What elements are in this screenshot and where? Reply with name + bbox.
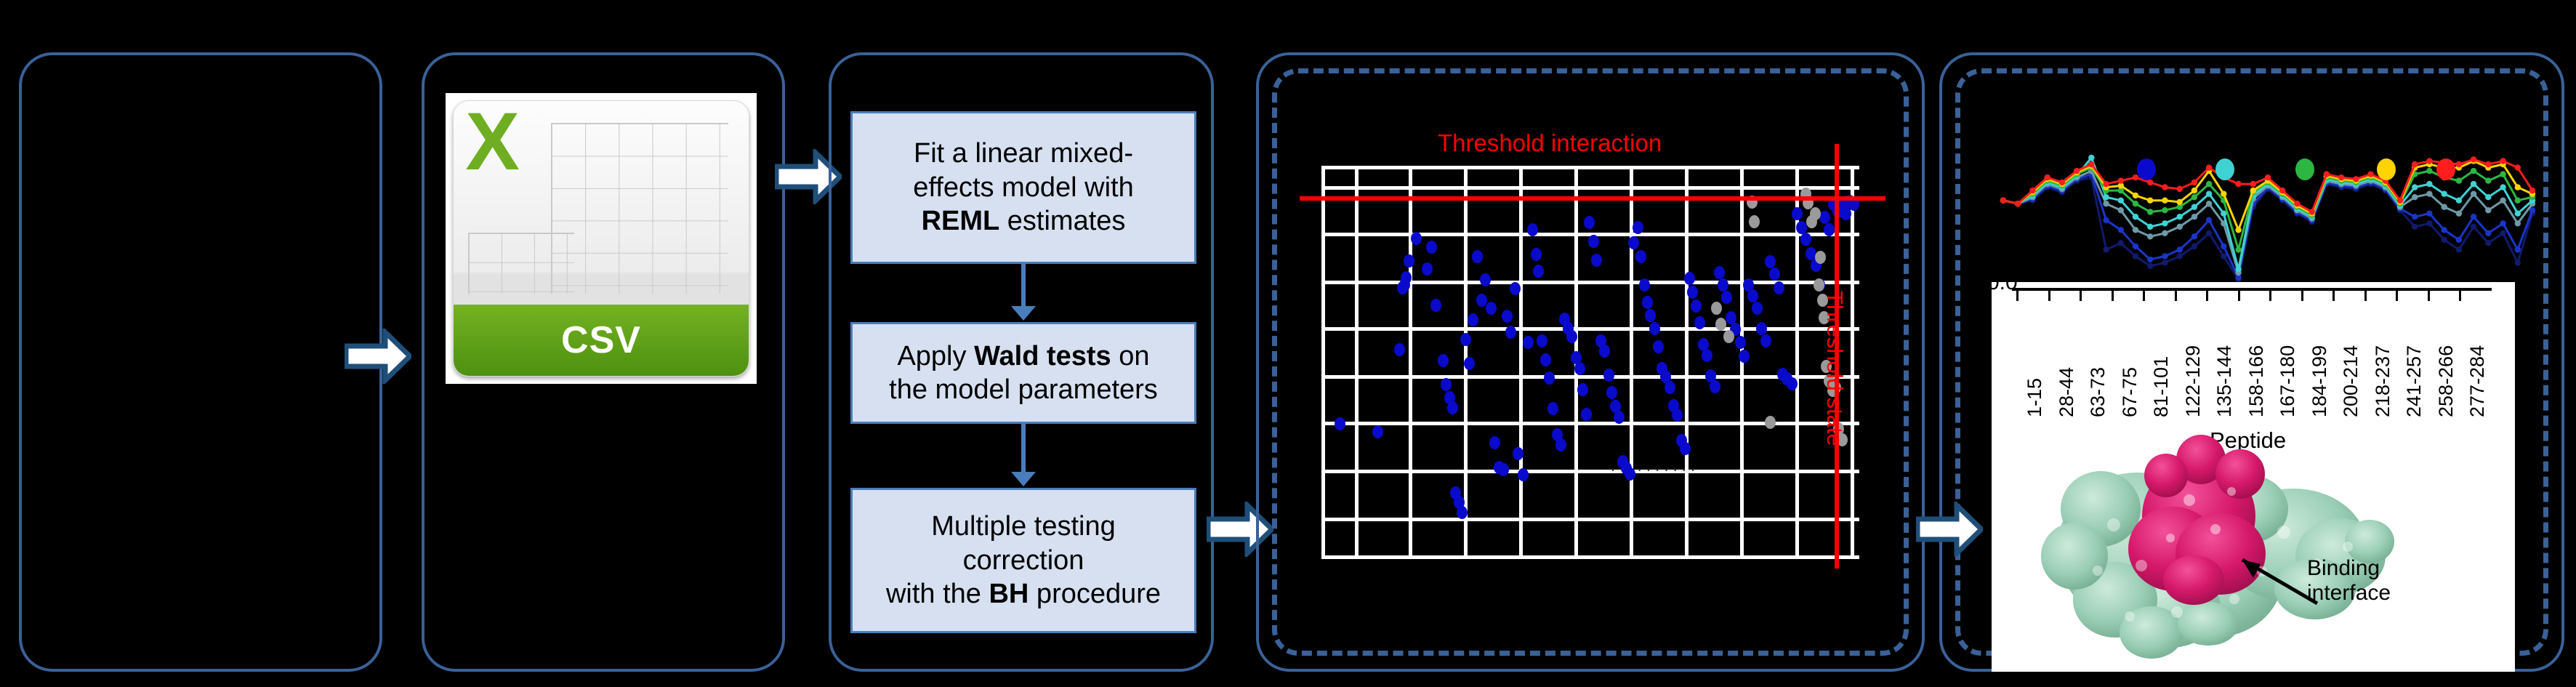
line-marker [2471,191,2476,197]
line-marker [2177,199,2183,205]
line-marker [2133,253,2138,259]
legend-dot [2215,158,2234,180]
csv-file-icon-card: X CSV [446,93,757,384]
scatter-point [1765,416,1776,429]
line-marker [2045,174,2050,180]
line-marker [2162,184,2168,190]
scatter-point [1411,232,1422,245]
line-marker [2103,246,2109,252]
scatter-point [1606,386,1617,399]
line-marker [2206,230,2212,236]
line-marker [2515,184,2521,190]
scatter-plot-area: . . . . . . . . . . [1321,166,1859,558]
scatter-point [1672,409,1683,422]
line-marker [2500,171,2505,177]
line-marker [2456,237,2462,243]
line-marker [2221,191,2226,197]
legend-dot [2137,158,2156,180]
scatter-point [1422,262,1433,276]
line-marker [2471,214,2476,220]
line-marker [2147,257,2153,262]
scatter-point [1588,235,1599,248]
scatter-point [1581,408,1592,421]
x-axis-tick [2269,289,2271,301]
scatter-point [1628,236,1639,249]
x-axis-tick [2396,289,2398,301]
bh-keyword: BH [989,579,1029,609]
scatter-point [1642,296,1653,309]
line-marker [2118,198,2124,204]
scatter-point [1756,322,1767,335]
line-marker [2118,177,2124,183]
line-marker [2162,198,2168,204]
line-marker [2133,193,2138,198]
line-marker [2162,220,2168,226]
scatter-point [1633,221,1643,234]
x-axis-tick [2459,289,2461,301]
x-axis-tick-label: 28-44 [2056,367,2078,417]
reml-keyword: REML [922,206,1000,236]
volcano-scatter-chart: Threshold interaction . . [1301,109,1883,589]
scatter-point [1523,336,1534,349]
scatter-point [1635,250,1646,263]
bh-line-3-post: procedure [1029,579,1161,609]
line-marker [2485,194,2491,200]
line-marker [2500,198,2505,204]
scatter-point [1824,223,1835,236]
fit-model-step[interactable]: Fit a linear mixed- effects model with R… [850,111,1196,264]
line-marker [2191,244,2197,249]
x-axis-tick [2048,289,2050,301]
line-marker [2118,207,2124,213]
line-marker [2206,191,2212,197]
line-marker [2426,220,2432,226]
line-marker [2221,253,2226,259]
x-axis-tick-label: 184-199 [2309,345,2331,417]
scatter-point [1810,207,1821,220]
line-marker [2426,191,2432,197]
scatter-point [1765,255,1776,268]
wald-keyword: Wald tests [974,341,1111,371]
scatter-point [1774,281,1784,294]
line-marker [2162,253,2168,259]
line-marker [2485,240,2491,246]
line-marker [2015,201,2021,206]
line-marker [2294,201,2300,206]
line-marker [2177,224,2183,230]
x-axis-tick [2206,289,2208,301]
scatter-point [1489,436,1500,449]
binding-interface-line-2: interface [2307,581,2391,606]
scatter-point [1711,302,1722,315]
scatter-point [1401,271,1412,284]
bh-line-1: Multiple testing [886,510,1161,543]
line-marker [2177,246,2183,252]
line-marker [2029,188,2035,193]
x-axis-tick-label: 63-73 [2087,367,2109,417]
line-marker [2412,184,2418,190]
scatter-point [1752,302,1763,315]
scatter-point [1603,369,1614,382]
scatter-point [1710,380,1720,393]
line-marker [2515,164,2521,170]
scatter-point [1438,354,1449,367]
line-marker [2206,201,2212,206]
connector-wald-to-bh-arrowhead [1011,472,1036,486]
wald-line-2: the model parameters [889,373,1158,406]
line-marker [2515,260,2521,265]
binding-interface-line-1: Binding [2307,556,2391,581]
scatter-point [1639,278,1650,292]
arrow-panel4-to-panel5 [1916,502,1983,557]
line-marker [2103,201,2109,206]
legend-dot [2295,158,2314,180]
scatter-point [1721,291,1732,304]
line-marker [2412,214,2418,220]
bh-line-2: correction [886,544,1161,577]
line-marker [2500,158,2505,164]
x-axis-tick-label: 277-284 [2466,345,2489,417]
scatter-point [1680,442,1691,455]
line-marker [2074,168,2080,174]
line-marker [2456,198,2462,204]
line-marker [2442,204,2447,210]
line-marker [2485,207,2491,213]
excel-x-icon: X [465,101,520,182]
scatter-point [1840,207,1851,220]
line-marker [2500,220,2505,226]
line-marker [2426,211,2432,217]
scatter-point [1464,357,1475,370]
spreadsheet-grid-icon [551,123,728,293]
x-axis-tick [2238,289,2240,301]
connector-wald-to-bh [1021,424,1026,475]
scatter-point [1694,316,1705,329]
x-axis-tick-label: 1-15 [2024,378,2046,417]
scatter-point [1472,250,1483,263]
scatter-point [1749,215,1760,228]
scatter-point [1787,377,1798,390]
line-marker [2059,180,2065,185]
scatter-point [1372,425,1383,438]
csv-banner: CSV [454,305,749,376]
line-marker [2235,227,2241,233]
line-chart-legend [2137,158,2442,183]
line-marker [2515,246,2521,252]
x-axis-tick-label: 135-144 [2213,345,2236,417]
line-marker [2500,184,2505,190]
scatter-points-layer [1321,166,1859,558]
x-axis-tick [2016,289,2018,301]
x-axis-tick [2080,289,2082,301]
line-marker [2235,246,2241,252]
scatter-point [1819,211,1830,224]
line-marker [2471,181,2476,187]
line-marker [2118,240,2124,246]
line-marker [2147,209,2153,214]
scatter-point [1723,330,1734,343]
scatter-point [1502,310,1513,323]
line-marker [2118,227,2124,233]
line-marker [2147,224,2153,230]
line-marker [2442,227,2447,233]
scatter-point [1441,378,1452,391]
csv-icon: X CSV [453,100,749,377]
line-marker [2088,155,2094,161]
x-axis-tick-label: 241-257 [2403,345,2426,417]
x-axis-tick-label: 81-101 [2150,356,2173,417]
line-marker [2147,198,2153,204]
scatter-point [1518,468,1529,481]
line-marker [2221,244,2226,249]
scatter-point [1457,506,1468,519]
scatter-point [1566,330,1577,343]
line-marker [2485,161,2491,167]
line-marker [2133,201,2138,206]
scatter-point [1814,278,1824,292]
connector-fit-to-wald-arrowhead [1011,306,1036,321]
line-marker [2177,186,2183,192]
line-marker [2456,211,2462,217]
line-marker [2103,181,2109,187]
x-axis-tick [2333,289,2335,301]
line-marker [2529,188,2535,193]
legend-dot [2377,158,2396,180]
scatter-point [1653,340,1664,353]
scatter-point [1335,417,1345,430]
fit-model-line-3: REML estimates [913,204,1133,238]
wald-line-1: Apply Wald tests on [889,340,1158,373]
scatter-point [1404,254,1414,268]
scatter-point [1498,463,1509,476]
threshold-interaction-line [1300,196,1885,201]
wald-line-1-pre: Apply [897,341,974,371]
line-marker [2515,220,2521,226]
line-marker [2088,161,2094,167]
x-axis-tick [2175,289,2177,301]
line-marker [2103,194,2109,200]
line-marker [2162,260,2168,265]
line-marker [2515,211,2521,217]
scatter-point [1480,273,1491,286]
multiple-testing-step[interactable]: Multiple testing correction with the BH … [850,488,1196,633]
line-marker [2103,217,2109,223]
scatter-point [1625,467,1635,481]
wald-line-1-post: on [1111,341,1150,371]
scatter-point [1505,326,1516,339]
line-marker [2397,198,2403,204]
line-marker [2133,214,2138,220]
scatter-point [1533,265,1544,278]
scatter-point [1531,248,1542,261]
line-marker [2147,233,2153,239]
wald-tests-step[interactable]: Apply Wald tests on the model parameters [850,322,1196,424]
scatter-point [1513,447,1524,460]
connector-fit-to-wald [1021,264,1026,309]
line-marker [2177,253,2183,259]
scatter-point [1815,251,1826,264]
line-marker [2162,207,2168,213]
scatter-point [1544,371,1555,385]
legend-dot [2436,158,2455,180]
line-marker [2162,230,2168,236]
line-marker [2191,214,2197,220]
x-axis-tick [2112,289,2114,301]
line-marker [2456,246,2462,252]
scatter-point [1426,241,1437,254]
line-marker [2191,188,2197,193]
scatter-point [1599,345,1610,358]
x-axis-tick-label: 122-129 [2182,345,2205,417]
x-axis-tick [2364,289,2367,301]
scatter-point [1715,318,1726,331]
x-axis-tick-label: 218-237 [2372,345,2394,417]
line-marker [2133,227,2138,233]
line-marker [2279,188,2285,193]
line-marker [2471,156,2476,162]
x-axis-tick [2428,289,2430,301]
line-marker [2456,177,2462,183]
scatter-point [1591,254,1602,267]
line-marker [2412,194,2418,200]
scatter-point [1540,353,1551,366]
scatter-point [1792,207,1803,220]
x-axis-tick [2143,289,2145,301]
pipeline-diagram: X CSV Fit a linear mixed- effects model … [0,0,2576,687]
spreadsheet-grid-secondary-icon [468,233,574,293]
csv-banner-label: CSV [561,318,641,362]
scatter-point [1430,299,1441,312]
scatter-point [1769,268,1780,281]
line-series-tref-navy [2003,177,2532,279]
x-axis-tick-label: 258-266 [2435,345,2458,417]
line-marker [2191,194,2197,200]
scatter-point [1702,349,1712,362]
panel-1-input [19,52,382,672]
x-axis-tick [2301,289,2303,301]
fit-model-line-2: effects model with [913,171,1133,204]
binding-interface-callout: Binding interface [2307,556,2391,605]
scatter-point [1486,302,1497,315]
bh-line-3: with the BH procedure [886,577,1161,611]
line-marker [2191,233,2197,239]
line-marker [2471,168,2476,174]
scatter-point [1460,333,1471,346]
line-marker [2485,230,2491,236]
scatter-point [1735,336,1746,349]
scatter-point [1577,383,1588,396]
line-marker [2235,266,2241,272]
line-marker [2221,211,2226,217]
scatter-point [1684,272,1695,285]
bh-line-3-pre: with the [886,579,989,609]
scatter-point [1447,401,1458,414]
x-axis-tick-label: 67-75 [2119,367,2141,417]
scatter-point [1555,438,1566,451]
scatter-point [1510,282,1521,295]
scatter-point [1614,411,1625,424]
x-axis-tick-label: 200-214 [2340,345,2362,417]
line-marker [2515,198,2521,204]
scatter-point [1537,334,1547,347]
arrow-into-panel-1 [345,329,411,384]
line-marker [2456,161,2462,167]
line-marker [2309,209,2315,214]
scatter-point [1574,362,1585,375]
line-marker [2500,230,2505,236]
scatter-point [1584,216,1595,229]
scatter-point [1714,266,1725,279]
line-marker [2177,214,2183,220]
scatter-point [1691,300,1702,313]
line-marker [2133,244,2138,249]
scatter-point [1547,402,1558,415]
line-marker [2471,224,2476,230]
scatter-point [1760,334,1771,347]
line-marker [2442,237,2447,243]
line-marker [2191,204,2197,210]
scatter-point [1687,286,1698,299]
scatter-point [1718,278,1728,292]
threshold-state-label: Threshold state [1822,291,1848,446]
scatter-point [1739,350,1750,363]
scatter-point [1800,233,1811,246]
scatter-point [1527,223,1538,236]
threshold-interaction-label: Threshold interaction [1438,129,1662,157]
scatter-point [1645,309,1656,322]
protein-surface-figure [2028,422,2435,662]
fit-model-line-3-rest: estimates [999,206,1125,236]
line-marker [2442,191,2447,197]
x-axis-tick-label: 158-166 [2245,345,2268,417]
line-marker [2147,263,2153,269]
line-marker [2000,198,2006,204]
scatter-point [1394,343,1405,356]
line-marker [2485,177,2491,183]
scatter-point [1665,381,1675,394]
line-marker [2206,217,2212,223]
scatter-point [1747,289,1758,302]
scatter-point [1468,313,1478,326]
scatter-point [1649,322,1660,335]
x-axis-tick-label: 167-180 [2277,345,2299,417]
fit-model-line-1: Fit a linear mixed- [913,137,1133,170]
line-marker [2412,224,2418,230]
line-marker [2250,188,2256,193]
